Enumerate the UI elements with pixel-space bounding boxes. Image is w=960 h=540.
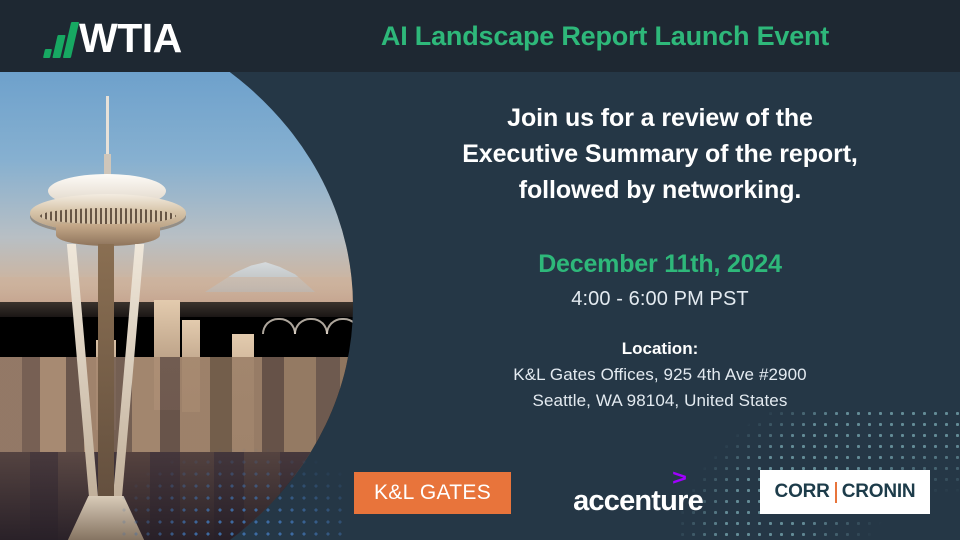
event-time: 4:00 - 6:00 PM PST bbox=[571, 288, 748, 311]
needle-core bbox=[98, 244, 114, 540]
headline-line-3: followed by networking. bbox=[380, 172, 940, 208]
accenture-logo-text: accenture > bbox=[573, 486, 703, 516]
needle-observation-ring bbox=[40, 208, 176, 224]
event-title: AI Landscape Report Launch Event bbox=[0, 0, 960, 72]
corr-cronin-divider bbox=[835, 482, 837, 503]
needle-underside bbox=[56, 224, 160, 246]
corr-text: CORR bbox=[775, 481, 830, 503]
location-line-1: K&L Gates Offices, 925 4th Ave #2900 bbox=[513, 365, 806, 385]
headline-line-1: Join us for a review of the bbox=[380, 100, 940, 136]
event-flyer: WTIA AI Landscape Report Launch Event bbox=[0, 0, 960, 540]
location-label: Location: bbox=[622, 339, 699, 359]
header-bar: WTIA AI Landscape Report Launch Event bbox=[0, 0, 960, 72]
accenture-logo: accenture > bbox=[558, 470, 718, 516]
kl-gates-logo: K&L GATES bbox=[354, 472, 511, 514]
headline: Join us for a review of the Executive Su… bbox=[380, 100, 940, 208]
sponsor-logos: K&L GATES accenture > CORR CRONIN bbox=[330, 462, 960, 524]
event-date: December 11th, 2024 bbox=[538, 250, 782, 279]
dot-pattern-left bbox=[118, 420, 348, 540]
location-line-2: Seattle, WA 98104, United States bbox=[533, 391, 788, 411]
corr-cronin-logo: CORR CRONIN bbox=[760, 470, 930, 514]
accenture-arrow-icon: > bbox=[672, 471, 686, 485]
kl-gates-logo-text: K&L GATES bbox=[374, 481, 491, 505]
needle-leg bbox=[67, 244, 102, 540]
needle-mast-base bbox=[104, 154, 111, 176]
cronin-text: CRONIN bbox=[842, 481, 916, 503]
headline-line-2: Executive Summary of the report, bbox=[380, 136, 940, 172]
